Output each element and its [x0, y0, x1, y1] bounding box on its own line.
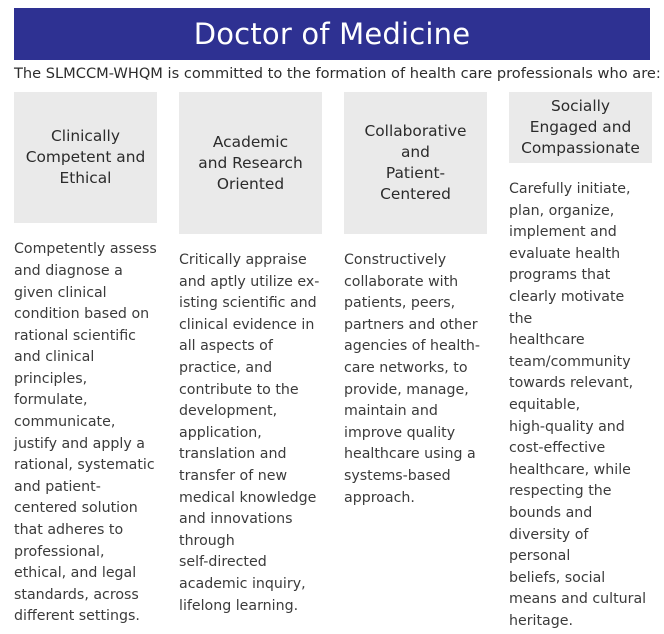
column-header-label-2: Academic and Research Oriented	[198, 132, 302, 195]
column-body-text-3: Constructively collaborate with patients…	[344, 250, 487, 509]
column-header-box-2: Academic and Research Oriented	[179, 92, 322, 234]
program-outcomes-infographic: Doctor of Medicine The SLMCCM-WHQM is co…	[0, 0, 664, 634]
outcome-column-socially-engaged-and-compassionate: Socially Engaged and Compassionate Caref…	[509, 92, 652, 628]
outcome-column-clinically-competent-and-ethical: Clinically Competent and Ethical Compete…	[14, 92, 157, 628]
column-header-label-4: Socially Engaged and Compassionate	[521, 96, 640, 159]
title-banner: Doctor of Medicine	[14, 8, 650, 60]
subtitle-statement: The SLMCCM-WHQM is committed to the form…	[14, 64, 654, 84]
column-body-text-2: Critically appraise and aptly utilize ex…	[179, 250, 322, 617]
outcome-column-collaborative-and-patient-centered: Collaborative and Patient- Centered Cons…	[344, 92, 487, 628]
column-header-box-3: Collaborative and Patient- Centered	[344, 92, 487, 234]
column-header-label-1: Clinically Competent and Ethical	[26, 126, 146, 189]
column-body-text-4: Carefully initiate, plan, organize, impl…	[509, 179, 652, 632]
column-header-box-4: Socially Engaged and Compassionate	[509, 92, 652, 163]
column-header-label-3: Collaborative and Patient- Centered	[365, 121, 467, 205]
column-header-box-1: Clinically Competent and Ethical	[14, 92, 157, 223]
outcome-column-academic-and-research-oriented: Academic and Research Oriented Criticall…	[179, 92, 322, 628]
outcome-columns: Clinically Competent and Ethical Compete…	[14, 92, 650, 628]
column-body-text-1: Competently assess and diagnose a given …	[14, 239, 157, 628]
page-title: Doctor of Medicine	[194, 20, 471, 49]
